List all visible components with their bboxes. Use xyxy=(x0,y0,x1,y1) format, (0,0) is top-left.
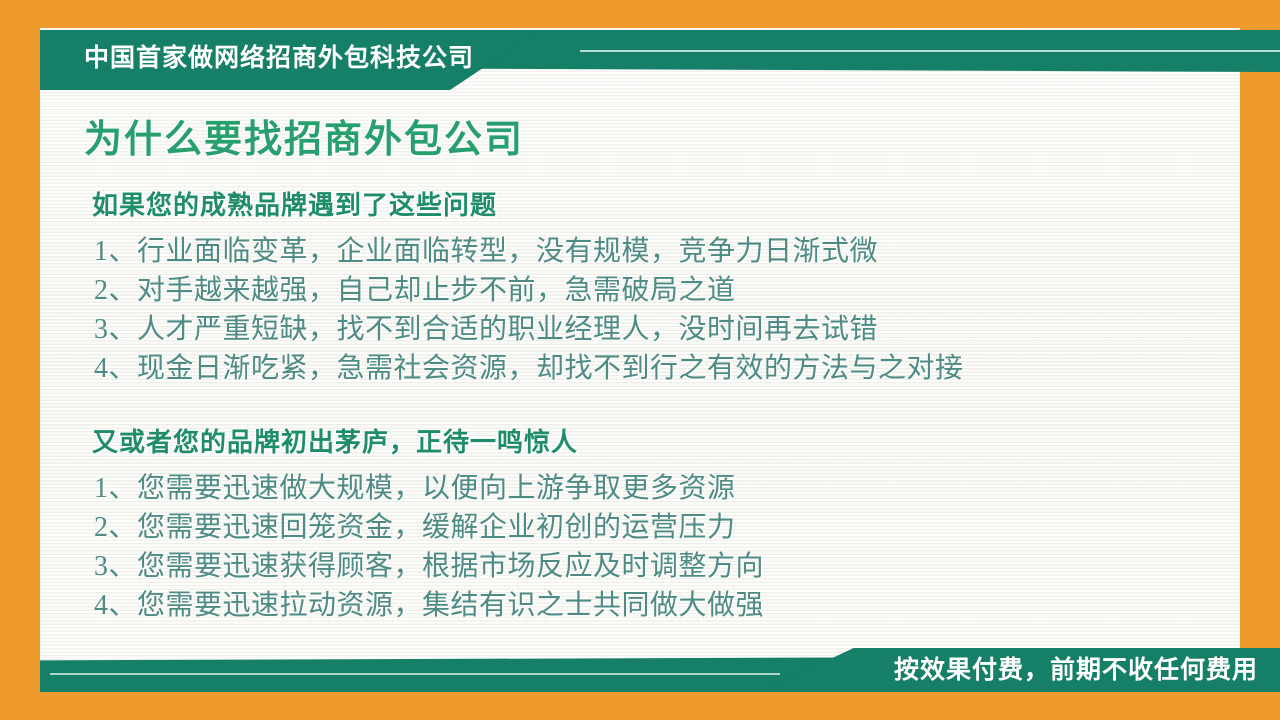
list-item: 2、对手越来越强，自己却止步不前，急需破局之道 xyxy=(94,271,1208,310)
page-title: 为什么要找招商外包公司 xyxy=(84,108,1208,163)
list-item: 3、您需要迅速获得顾客，根据市场反应及时调整方向 xyxy=(94,547,1208,586)
footer-tagline: 按效果付费，前期不收任何费用 xyxy=(894,648,1258,692)
header-banner: 中国首家做网络招商外包科技公司 xyxy=(40,30,1280,90)
list-item: 1、行业面临变革，企业面临转型，没有规模，竞争力日渐式微 xyxy=(94,232,1208,271)
list-item: 2、您需要迅速回笼资金，缓解企业初创的运营压力 xyxy=(94,508,1208,547)
need-list-new-brand: 1、您需要迅速做大规模，以便向上游争取更多资源 2、您需要迅速回笼资金，缓解企业… xyxy=(78,469,1208,625)
list-item: 4、现金日渐吃紧，急需社会资源，却找不到行之有效的方法与之对接 xyxy=(94,349,1208,388)
list-item: 1、您需要迅速做大规模，以便向上游争取更多资源 xyxy=(94,469,1208,508)
main-content: 为什么要找招商外包公司 如果您的成熟品牌遇到了这些问题 1、行业面临变革，企业面… xyxy=(78,108,1208,625)
footer-banner: 按效果付费，前期不收任何费用 xyxy=(40,648,1280,692)
list-item: 3、人才严重短缺，找不到合适的职业经理人，没时间再去试错 xyxy=(94,310,1208,349)
header-banner-text: 中国首家做网络招商外包科技公司 xyxy=(84,30,474,86)
header-accent-line xyxy=(580,50,1280,52)
list-item: 4、您需要迅速拉动资源，集结有识之士共同做大做强 xyxy=(94,586,1208,625)
slide-root: 中国首家做网络招商外包科技公司 为什么要找招商外包公司 如果您的成熟品牌遇到了这… xyxy=(0,0,1280,720)
section-spacer xyxy=(78,388,1208,422)
section-heading-2: 又或者您的品牌初出茅庐，正待一鸣惊人 xyxy=(92,422,1208,459)
problem-list-mature-brand: 1、行业面临变革，企业面临转型，没有规模，竞争力日渐式微 2、对手越来越强，自己… xyxy=(78,232,1208,388)
section-heading-1: 如果您的成熟品牌遇到了这些问题 xyxy=(92,185,1208,222)
footer-accent-line xyxy=(50,673,780,675)
